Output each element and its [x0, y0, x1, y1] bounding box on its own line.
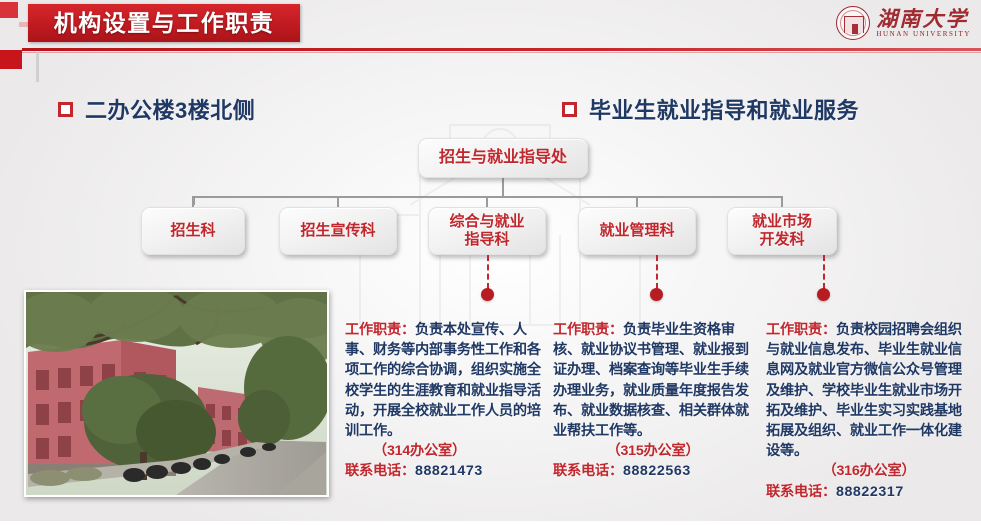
org-node-label: 就业管理科	[599, 222, 674, 240]
page-title: 机构设置与工作职责	[28, 4, 300, 42]
org-node-zhaoshengxuanchuanke[interactable]: 招生宣传科	[279, 207, 397, 255]
duty-phone-label: 联系电话：	[766, 484, 836, 500]
org-node-root-label: 招生与就业指导处	[439, 149, 567, 168]
duty-phone-label: 联系电话：	[345, 463, 415, 479]
org-node-zongheyujiuyezhidaoke[interactable]: 综合与就业指导科	[428, 207, 546, 255]
duty-label: 工作职责：	[345, 322, 415, 338]
section-heading-service: 毕业生就业指导和就业服务	[562, 93, 859, 125]
slide-canvas: 机构设置与工作职责 湖南大学 HUNAN UNIVERSITY 二办公楼3楼北侧…	[0, 0, 981, 525]
duty-office: （316办公室）	[766, 461, 972, 481]
pointer-dot-icon	[817, 288, 830, 301]
duty-column-1: 工作职责：负责本处宣传、人事、财务等内部事务性工作和各项工作的综合协调，组织实施…	[345, 320, 545, 482]
duty-office: （315办公室）	[553, 441, 753, 461]
connector-root-vertical	[502, 178, 504, 197]
pointer-dashed-line	[823, 255, 825, 289]
duty-phone: 联系电话：88822563	[553, 461, 753, 481]
slide-bottom-edge	[0, 521, 981, 525]
duty-body: 负责毕业生资格审核、就业协议书管理、就业报到证办理、档案查询等毕业生手续办理业务…	[553, 322, 749, 439]
header-divider-thin	[22, 52, 981, 53]
connector-drop	[192, 196, 194, 207]
duty-phone: 联系电话：88821473	[345, 461, 545, 481]
pointer-dot-icon	[481, 288, 494, 301]
duty-label: 工作职责：	[766, 322, 836, 338]
duty-phone-label: 联系电话：	[553, 463, 623, 479]
university-seal-icon	[836, 6, 870, 40]
university-logo: 湖南大学 HUNAN UNIVERSITY	[836, 2, 971, 44]
connector-drop	[781, 196, 783, 207]
duty-phone-number: 88822563	[623, 463, 691, 479]
square-bullet-icon	[562, 102, 577, 117]
section-heading-location-label: 二办公楼3楼北侧	[85, 93, 255, 125]
org-node-label: 就业市场开发科	[752, 213, 812, 248]
section-heading-location: 二办公楼3楼北侧	[58, 93, 255, 125]
org-node-jiuyeshichangkaifake[interactable]: 就业市场开发科	[727, 207, 837, 255]
pointer-dot-icon	[650, 288, 663, 301]
pointer-dashed-line	[656, 255, 658, 289]
duty-office: （314办公室）	[345, 441, 545, 461]
duty-phone-number: 88822317	[836, 484, 904, 500]
header-divider	[22, 48, 981, 51]
org-node-label: 招生科	[170, 222, 215, 240]
org-node-zhaoshengke[interactable]: 招生科	[141, 207, 245, 255]
connector-drop	[486, 196, 488, 207]
square-bullet-icon	[58, 102, 73, 117]
duty-body: 负责本处宣传、人事、财务等内部事务性工作和各项工作的综合协调，组织实施全校学生的…	[345, 322, 541, 439]
org-node-jiuyeguanlike[interactable]: 就业管理科	[578, 207, 696, 255]
org-node-label: 招生宣传科	[300, 222, 375, 240]
campus-photo	[24, 290, 329, 497]
duty-phone: 联系电话：88822317	[766, 482, 972, 502]
logo-name-en: HUNAN UNIVERSITY	[876, 30, 971, 39]
connector-drop	[337, 196, 339, 207]
duty-column-3: 工作职责：负责校园招聘会组织与就业信息发布、毕业生就业信息网及就业官方微信公众号…	[766, 320, 972, 502]
section-heading-service-label: 毕业生就业指导和就业服务	[589, 93, 859, 125]
slide-header: 机构设置与工作职责	[0, 0, 981, 50]
duty-body: 负责校园招聘会组织与就业信息发布、毕业生就业信息网及就业官方微信公众号管理及维护…	[766, 322, 962, 459]
header-vertical-accent	[36, 52, 39, 82]
connector-drop	[636, 196, 638, 207]
header-decoration-bottom	[0, 50, 22, 69]
logo-name-cn: 湖南大学	[876, 8, 971, 30]
duty-column-2: 工作职责：负责毕业生资格审核、就业协议书管理、就业报到证办理、档案查询等毕业生手…	[553, 320, 753, 482]
duty-label: 工作职责：	[553, 322, 623, 338]
pointer-dashed-line	[487, 255, 489, 289]
org-node-label: 综合与就业指导科	[449, 213, 524, 248]
header-decoration-top	[0, 2, 18, 18]
org-node-root[interactable]: 招生与就业指导处	[418, 138, 588, 178]
duty-phone-number: 88821473	[415, 463, 483, 479]
